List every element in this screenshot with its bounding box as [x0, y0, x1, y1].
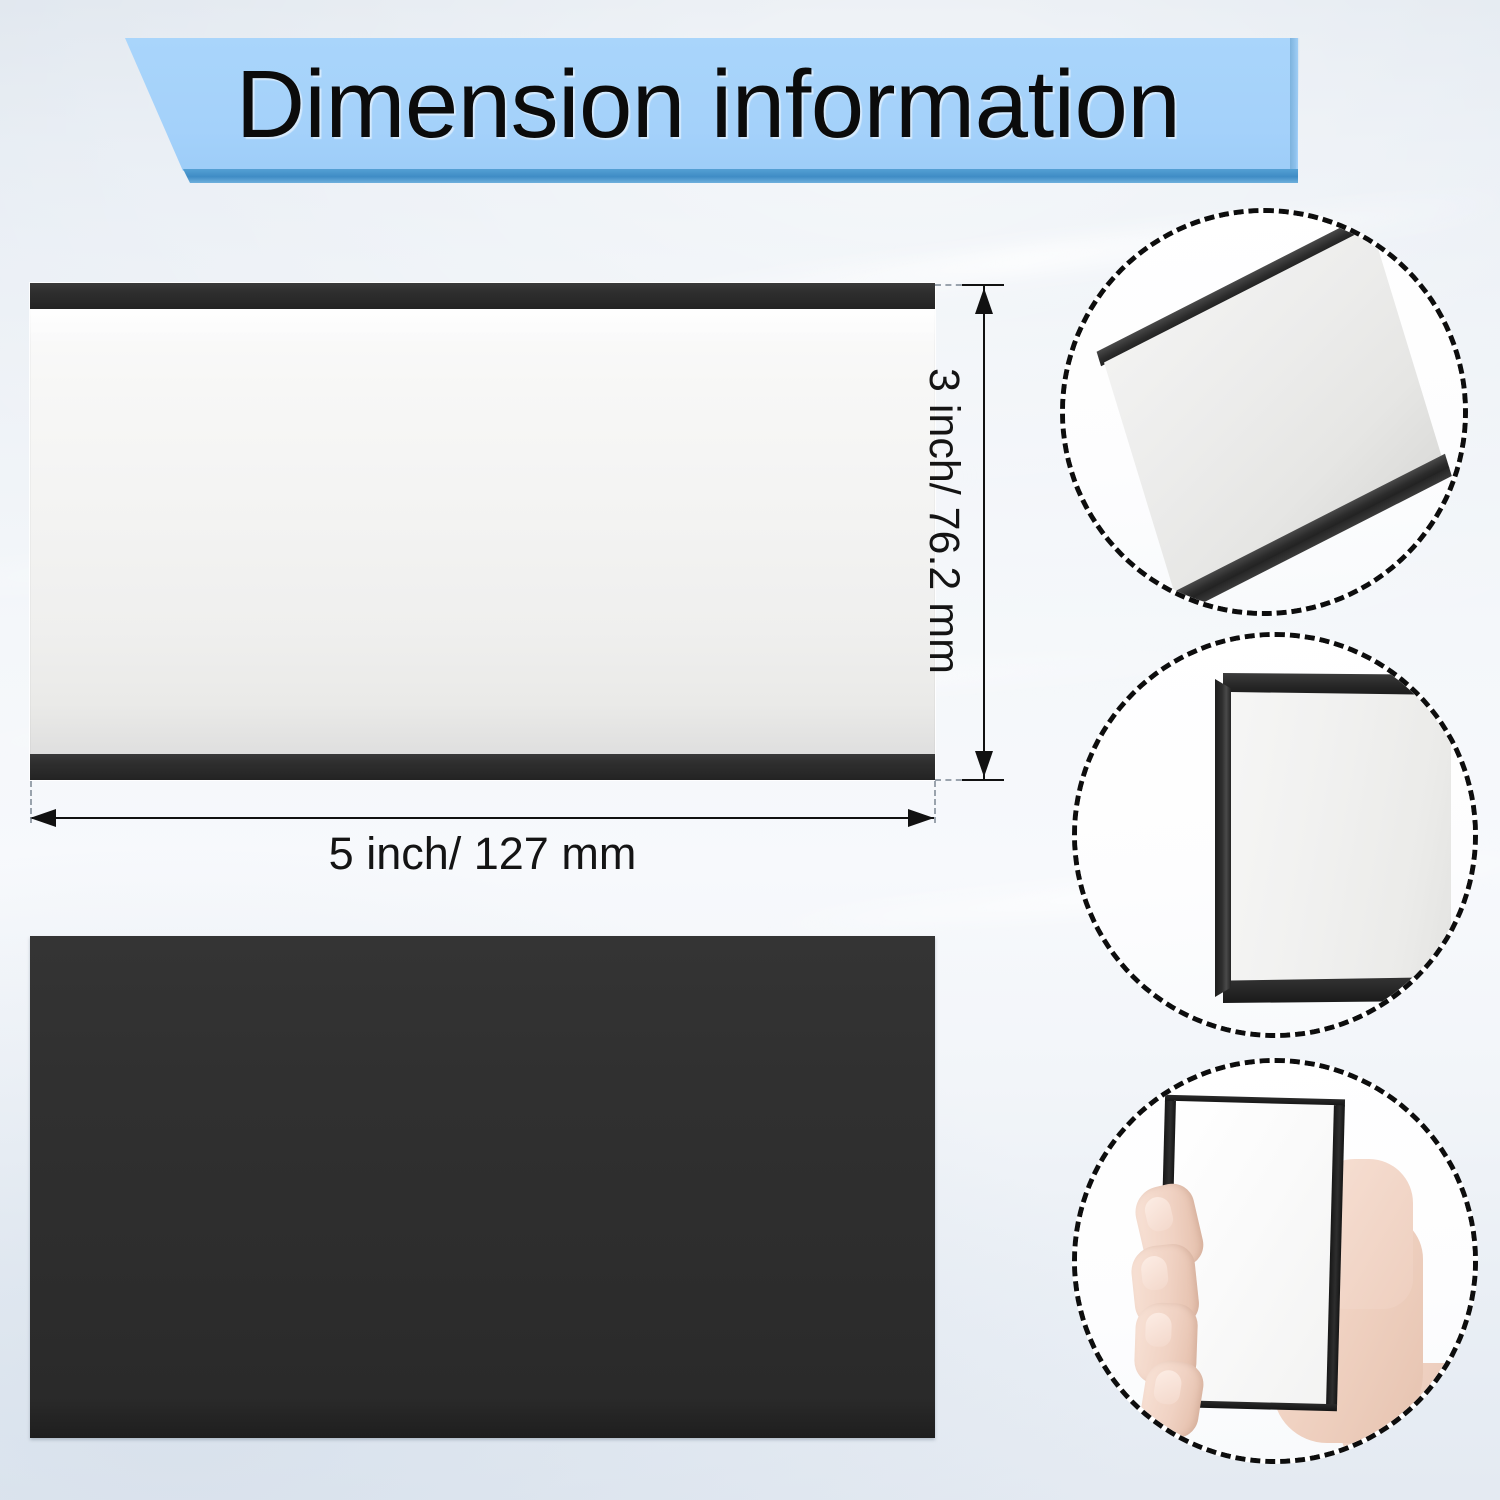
plate-top-rail — [30, 283, 935, 309]
title-banner: Dimension information — [118, 38, 1318, 188]
height-tick-bottom — [962, 779, 1004, 781]
width-arrow-right-icon — [908, 809, 934, 827]
callout-side-perspective-view — [1072, 632, 1478, 1038]
product-back-view — [30, 936, 935, 1438]
callout-2-side-edge — [1215, 679, 1231, 997]
callout-2-bottom-rail — [1223, 977, 1451, 1003]
callout-1-white-face — [1104, 226, 1442, 593]
plate-white-face — [30, 305, 935, 758]
width-dimension-line — [32, 817, 934, 819]
plate-bottom-rail — [30, 754, 935, 780]
height-arrow-bottom-icon — [975, 751, 993, 777]
callout-2-scene — [1077, 637, 1473, 1033]
height-arrow-top-icon — [975, 288, 993, 314]
fingernail — [1152, 1368, 1183, 1406]
width-arrow-left-icon — [30, 809, 56, 827]
height-dimension-line — [983, 286, 985, 779]
product-front-view — [30, 283, 935, 780]
width-guide-dash-right — [934, 781, 936, 823]
callout-2-white-face — [1227, 683, 1451, 993]
callout-angled-top-view — [1060, 208, 1468, 616]
fingernail — [1142, 1194, 1175, 1233]
fingernail — [1145, 1312, 1172, 1347]
callout-hand-holding-view — [1072, 1058, 1478, 1464]
fingernail — [1140, 1255, 1169, 1292]
callout-2-top-rail — [1223, 673, 1451, 695]
callout-1-scene — [1065, 213, 1463, 611]
callout-3-scene — [1077, 1063, 1473, 1459]
height-dimension-label: 3 inch/ 76.2 mm — [919, 368, 968, 674]
infographic-canvas: Dimension information 3 inch/ 76.2 mm 5 … — [0, 0, 1500, 1500]
callout-1-plate — [1104, 226, 1442, 593]
width-dimension-label: 5 inch/ 127 mm — [30, 828, 935, 880]
page-title: Dimension information — [118, 38, 1298, 171]
callout-3-hand — [1077, 1063, 1473, 1459]
banner-shadow-strip — [118, 169, 1298, 183]
callout-2-plate — [1215, 673, 1451, 1003]
